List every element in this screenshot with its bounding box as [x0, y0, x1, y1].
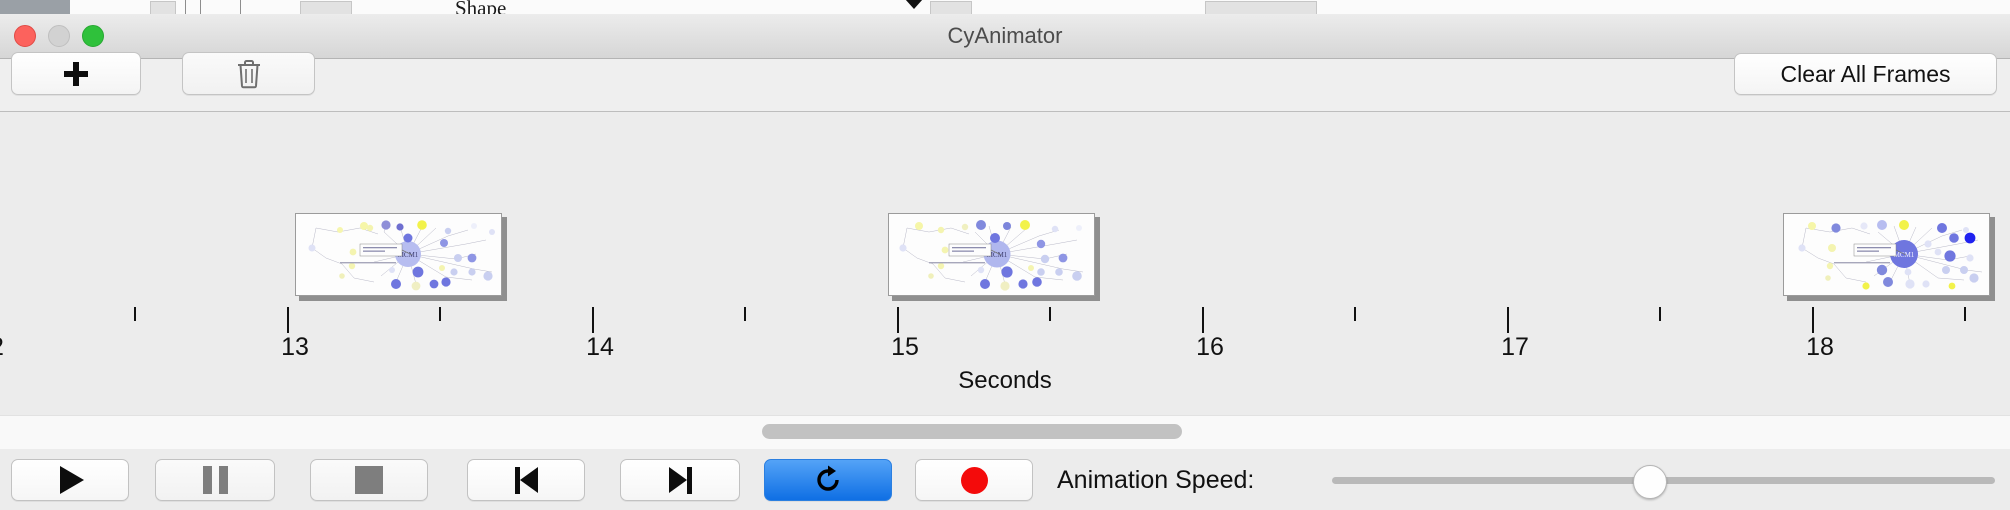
- ruler-label: 13: [281, 333, 309, 362]
- loop-toggle-button[interactable]: [764, 459, 892, 501]
- thumbnail-network-image: MCM1: [295, 213, 502, 296]
- ruler-label: 18: [1806, 333, 1834, 362]
- ruler-tick-major: [592, 307, 594, 333]
- network-graph-icon: MCM1: [1784, 214, 1989, 295]
- cyanimator-window: Shape CyAnimator Clear All Frames: [0, 0, 2010, 510]
- ruler-label: 12: [0, 333, 4, 362]
- clear-all-frames-button[interactable]: Clear All Frames: [1734, 53, 1997, 95]
- animation-speed-slider-thumb[interactable]: [1633, 465, 1667, 499]
- ruler-tick-major: [1812, 307, 1814, 333]
- timeline-ruler[interactable]: 12 13 14 15 16 17 18: [0, 307, 2010, 415]
- skip-to-start-icon: [515, 467, 538, 494]
- add-frame-button[interactable]: [11, 52, 141, 95]
- ruler-tick-minor: [1659, 307, 1661, 321]
- background-toolbar-chip: [0, 0, 70, 14]
- background-box: [1205, 1, 1317, 14]
- ruler-label: 15: [891, 333, 919, 362]
- network-graph-icon: MCM1: [296, 214, 501, 295]
- frame-thumbnail[interactable]: MCM1: [1783, 213, 1995, 301]
- first-frame-button[interactable]: [467, 459, 585, 501]
- ruler-label: 16: [1196, 333, 1224, 362]
- background-panel: [70, 0, 2010, 14]
- pause-icon: [203, 466, 228, 494]
- loop-icon: [812, 464, 844, 496]
- frame-thumbnail[interactable]: MCM1: [295, 213, 507, 301]
- frame-thumbnail[interactable]: MCM1: [888, 213, 1100, 301]
- background-app-label: Shape: [455, 0, 506, 14]
- ruler-tick-major: [1507, 307, 1509, 333]
- background-box: [150, 1, 176, 14]
- play-icon: [60, 466, 84, 494]
- last-frame-button[interactable]: [620, 459, 740, 501]
- background-cursor-icon: [905, 0, 923, 9]
- stop-icon: [355, 466, 383, 494]
- background-divider: [200, 0, 201, 14]
- record-icon: [961, 467, 988, 494]
- ruler-tick-minor: [1964, 307, 1966, 321]
- stop-button[interactable]: [310, 459, 428, 501]
- ruler-label: 14: [586, 333, 614, 362]
- axis-title: Seconds: [0, 367, 2010, 395]
- thumbnail-network-image: MCM1: [888, 213, 1095, 296]
- ruler-label: 17: [1501, 333, 1529, 362]
- thumbnail-network-image: MCM1: [1783, 213, 1990, 296]
- skip-to-end-icon: [669, 467, 692, 494]
- play-button[interactable]: [11, 459, 129, 501]
- background-box: [300, 1, 352, 14]
- background-app-strip: Shape: [0, 0, 2010, 14]
- delete-frame-button[interactable]: [182, 52, 315, 95]
- scrollbar-thumb[interactable]: [762, 424, 1182, 439]
- ruler-tick-minor: [134, 307, 136, 321]
- ruler-tick-major: [897, 307, 899, 333]
- background-box: [930, 1, 972, 14]
- ruler-tick-major: [1202, 307, 1204, 333]
- pause-button[interactable]: [155, 459, 275, 501]
- ruler-tick-minor: [744, 307, 746, 321]
- ruler-tick-minor: [439, 307, 441, 321]
- background-divider: [240, 0, 241, 14]
- ruler-tick-minor: [1354, 307, 1356, 321]
- record-button[interactable]: [915, 459, 1033, 501]
- background-divider: [185, 0, 186, 14]
- trash-icon: [236, 59, 262, 89]
- animation-speed-label: Animation Speed:: [1057, 459, 1254, 501]
- network-graph-icon: MCM1: [889, 214, 1094, 295]
- ruler-tick-major: [287, 307, 289, 333]
- ruler-tick-minor: [1049, 307, 1051, 321]
- svg-text:MCM1: MCM1: [1894, 251, 1915, 259]
- plus-icon: [64, 62, 88, 86]
